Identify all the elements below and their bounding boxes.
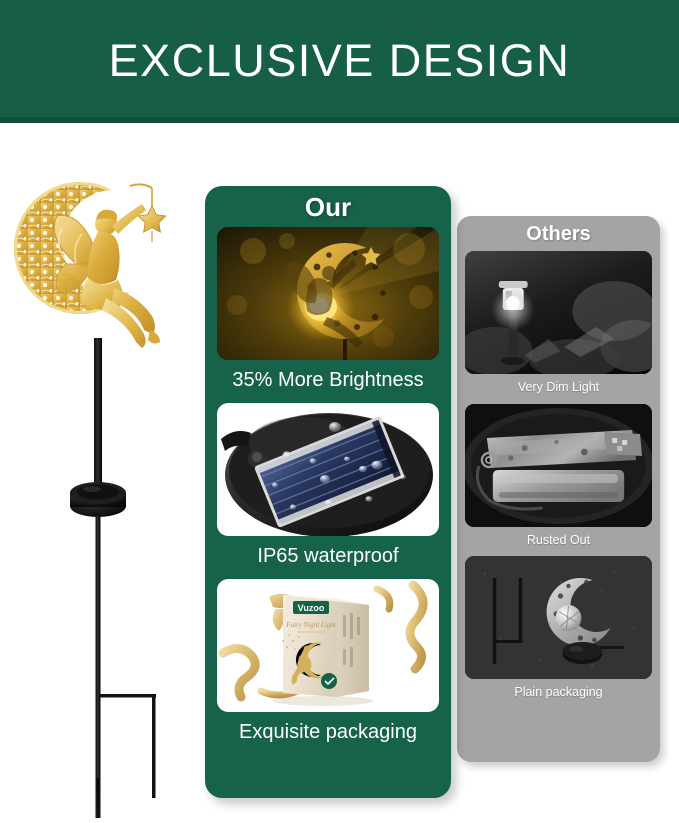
stake-support-bracket [100,694,156,798]
plain-packaging-photo [465,556,652,679]
our-item-list: 35% More Brightness [205,227,451,751]
our-item-caption: Exquisite packaging [217,712,439,751]
header-divider [0,117,679,123]
others-item-caption: Very Dim Light [465,374,652,400]
dim-path-light-photo [465,251,652,374]
others-item-plain-packaging: Plain packaging [465,556,652,705]
our-comparison-panel: Our [205,186,451,798]
page-title: EXCLUSIVE DESIGN [109,38,571,83]
solar-panel-closeup-photo [217,403,439,536]
our-item-caption: 35% More Brightness [217,360,439,399]
our-item-caption: IP65 waterproof [217,536,439,575]
header-banner: EXCLUSIVE DESIGN [0,0,679,121]
box-subtitle-text: Fairy Night Light [285,621,336,629]
others-item-caption: Rusted Out [465,527,652,553]
garden-stake-rod [70,338,156,818]
others-item-very-dim-light: Very Dim Light [465,251,652,400]
retail-gift-box-photo: Vuzoo Fairy Night Light [217,579,439,712]
our-panel-title: Our [205,194,451,221]
others-comparison-panel: Others [457,216,660,762]
our-item-waterproof: IP65 waterproof [217,403,439,575]
product-hero-image [2,138,198,818]
solar-panel-housing [70,482,126,517]
others-item-caption: Plain packaging [465,679,652,705]
box-brand-logo-text: Vuzoo [298,603,325,613]
infographic-page: EXCLUSIVE DESIGN [0,0,679,823]
others-item-rusted-out: Rusted Out [465,404,652,553]
others-item-list: Very Dim Light [457,251,660,705]
others-panel-title: Others [457,223,660,246]
our-item-brightness: 35% More Brightness [217,227,439,399]
lit-moon-fairy-at-night-photo [217,227,439,360]
our-item-packaging: Vuzoo Fairy Night Light [217,579,439,751]
rusted-battery-compartment-photo [465,404,652,527]
